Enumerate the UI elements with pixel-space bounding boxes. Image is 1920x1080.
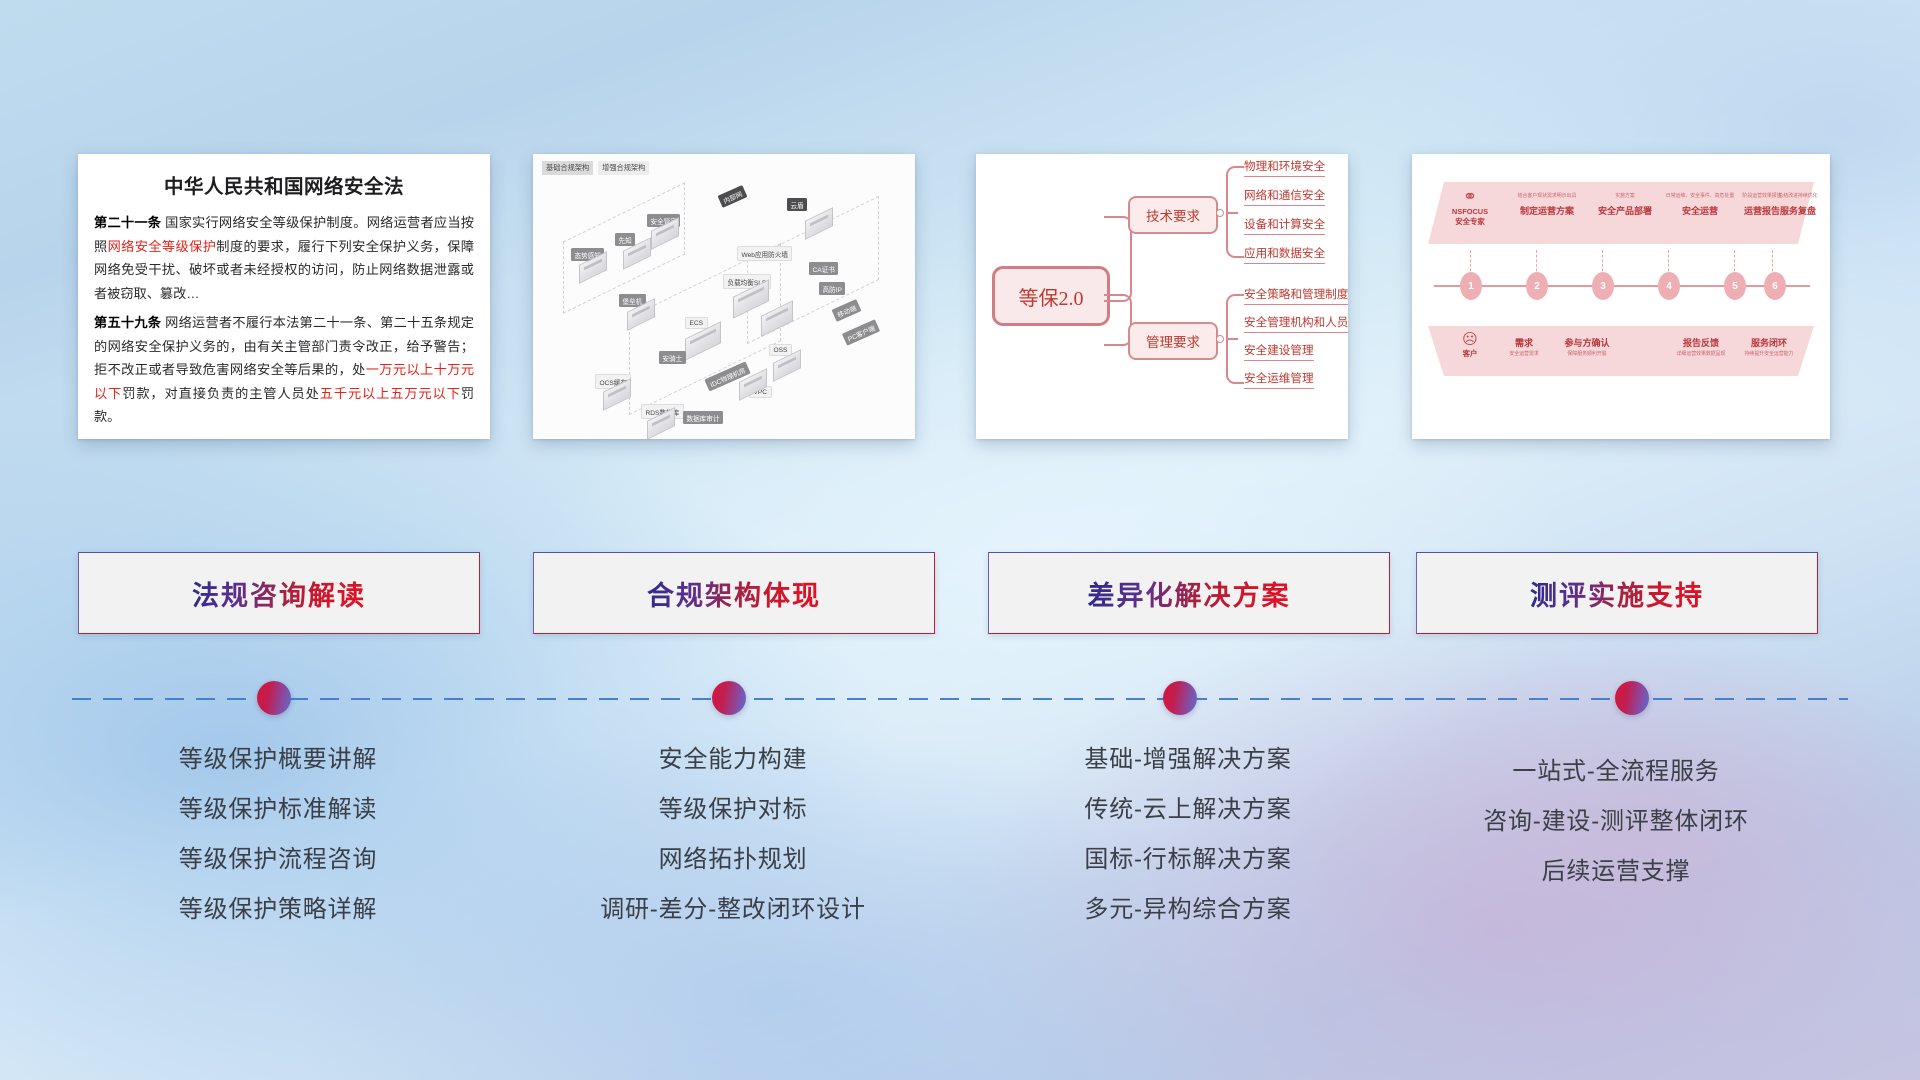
list-item: 后续运营支撑 bbox=[1416, 860, 1816, 884]
pillar-heading-1[interactable]: 法规咨询解读 bbox=[78, 552, 480, 634]
list-item: 咨询-建设-测评整体闭环 bbox=[1416, 810, 1816, 834]
pillar-heading-3-label: 差异化解决方案 bbox=[1088, 574, 1291, 613]
pillar-items-1: 等级保护概要讲解 等级保护标准解读 等级保护流程咨询 等级保护策略详解 bbox=[78, 748, 478, 948]
timeline-node-4 bbox=[1615, 681, 1649, 715]
pillar-items-2: 安全能力构建 等级保护对标 网络拓扑规划 调研-差分-整改闭环设计 bbox=[533, 748, 933, 948]
pillar-heading-2-label: 合规架构体现 bbox=[647, 574, 821, 613]
list-item: 等级保护流程咨询 bbox=[78, 848, 478, 872]
list-item: 调研-差分-整改闭环设计 bbox=[533, 898, 933, 922]
list-item: 网络拓扑规划 bbox=[533, 848, 933, 872]
list-item: 等级保护概要讲解 bbox=[78, 748, 478, 772]
timeline-node-3 bbox=[1163, 681, 1197, 715]
list-item: 等级保护对标 bbox=[533, 798, 933, 822]
connector-dashed-line bbox=[72, 698, 1848, 700]
list-item: 一站式-全流程服务 bbox=[1416, 760, 1816, 784]
list-item: 国标-行标解决方案 bbox=[988, 848, 1388, 872]
pillar-items-4: 一站式-全流程服务 咨询-建设-测评整体闭环 后续运营支撑 bbox=[1416, 760, 1816, 910]
pillar-heading-2[interactable]: 合规架构体现 bbox=[533, 552, 935, 634]
timeline-node-2 bbox=[712, 681, 746, 715]
list-item: 多元-异构综合方案 bbox=[988, 898, 1388, 922]
list-item: 等级保护策略详解 bbox=[78, 898, 478, 922]
pillar-headings-row: 法规咨询解读 合规架构体现 差异化解决方案 测评实施支持 等级保护概要讲解 等级… bbox=[0, 0, 1920, 1080]
list-item: 基础-增强解决方案 bbox=[988, 748, 1388, 772]
slide-stage: 中华人民共和国网络安全法 第二十一条 国家实行网络安全等级保护制度。网络运营者应… bbox=[0, 0, 1920, 1080]
pillar-heading-1-label: 法规咨询解读 bbox=[192, 574, 366, 613]
list-item: 安全能力构建 bbox=[533, 748, 933, 772]
pillar-items-3: 基础-增强解决方案 传统-云上解决方案 国标-行标解决方案 多元-异构综合方案 bbox=[988, 748, 1388, 948]
pillar-heading-4-label: 测评实施支持 bbox=[1530, 574, 1704, 613]
pillar-heading-4[interactable]: 测评实施支持 bbox=[1416, 552, 1818, 634]
list-item: 等级保护标准解读 bbox=[78, 798, 478, 822]
timeline-node-1 bbox=[257, 681, 291, 715]
pillar-heading-3[interactable]: 差异化解决方案 bbox=[988, 552, 1390, 634]
list-item: 传统-云上解决方案 bbox=[988, 798, 1388, 822]
